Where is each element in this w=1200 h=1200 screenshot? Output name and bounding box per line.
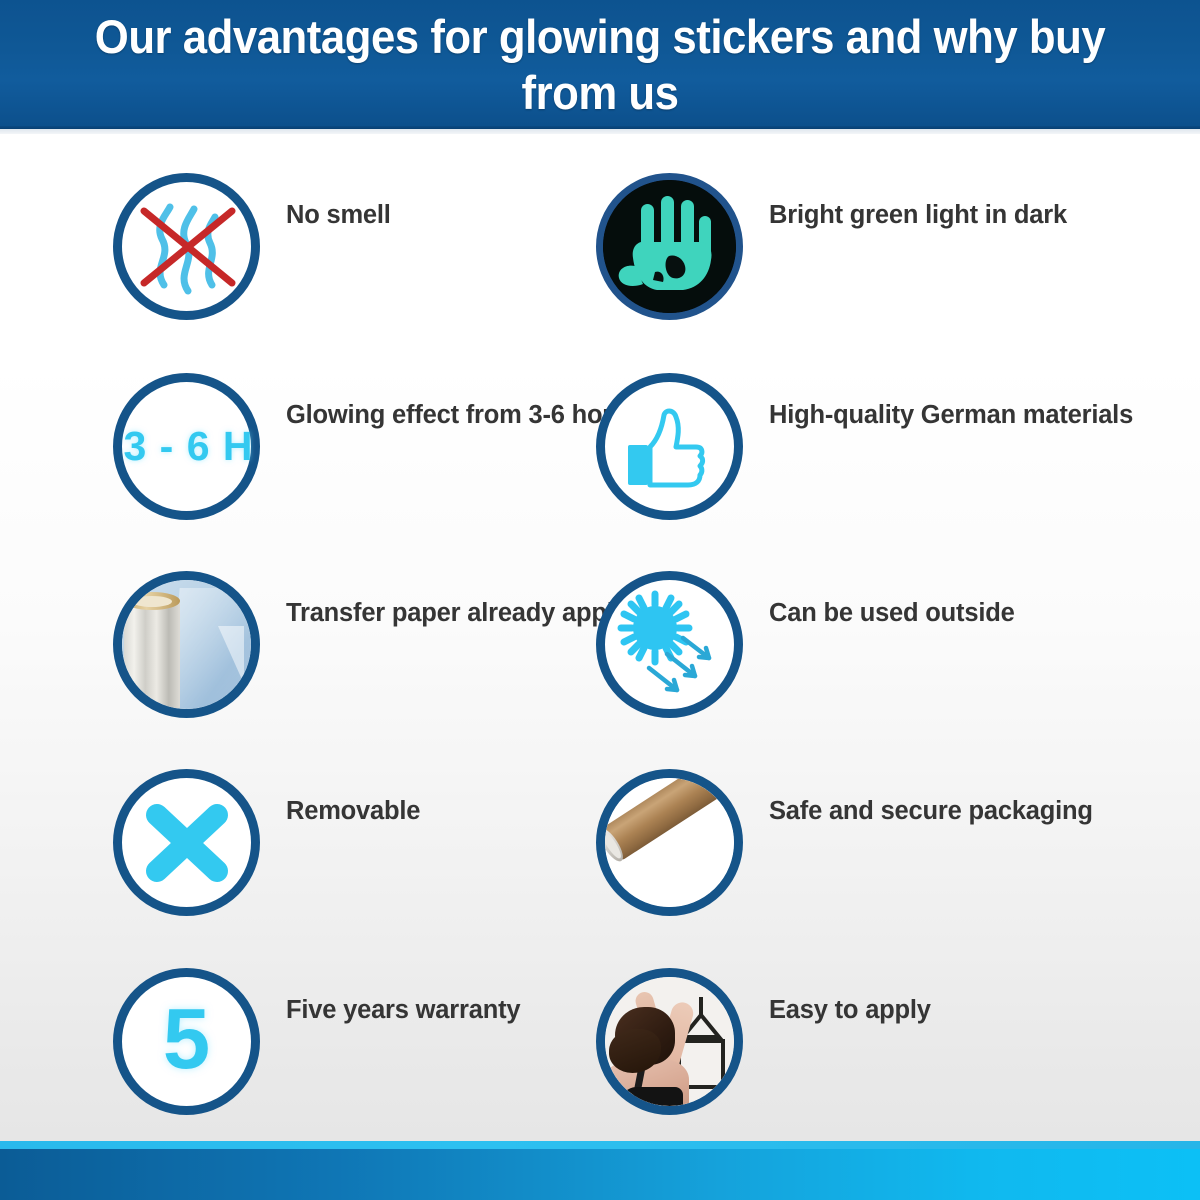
feature-no-smell: No smell (113, 173, 391, 320)
black-top (619, 1087, 683, 1106)
feature-glowing-duration: 3 - 6 H Glowing effect from 3-6 hours (113, 373, 641, 520)
page-title: Our advantages for glowing stickers and … (42, 9, 1158, 120)
feature-label: Bright green light in dark (769, 199, 1067, 232)
sun-rays-glyph (611, 586, 729, 704)
feature-german-materials: High-quality German materials (596, 373, 1133, 520)
number-five-icon: 5 (113, 968, 260, 1115)
thumbs-up-glyph (620, 397, 720, 497)
feature-label: Safe and secure packaging (769, 795, 1093, 828)
sun-with-rays-icon (596, 571, 743, 718)
cross-x-icon (113, 769, 260, 916)
film-roll-core-inner (132, 596, 172, 607)
no-smell-icon (113, 173, 260, 320)
apply-photo (605, 977, 734, 1106)
feature-warranty: 5 Five years warranty (113, 968, 520, 1115)
mailing-tube-icon (596, 769, 743, 916)
sun-spikes (621, 594, 689, 662)
thumbs-up-icon (596, 373, 743, 520)
mailing-tube-photo (605, 778, 734, 907)
film-fold (218, 626, 244, 684)
feature-easy-to-apply: Easy to apply (596, 968, 931, 1115)
feature-safe-packaging: Safe and secure packaging (596, 769, 1093, 916)
no-smell-glyph (132, 187, 242, 307)
feature-label: Glowing effect from 3-6 hours (286, 399, 641, 432)
glowing-handprint-icon (596, 173, 743, 320)
transfer-film-photo (122, 580, 251, 709)
hours-badge-text: 3 - 6 H (123, 423, 253, 470)
header-banner: Our advantages for glowing stickers and … (0, 0, 1200, 129)
feature-label: Removable (286, 795, 420, 828)
number-five-text: 5 (163, 997, 210, 1082)
footer-accent-line (0, 1141, 1200, 1149)
feature-label: Easy to apply (769, 994, 931, 1027)
footer-bar (0, 1149, 1200, 1200)
feature-label: Five years warranty (286, 994, 520, 1027)
feature-transfer-paper: Transfer paper already applied (113, 571, 650, 718)
handprint-photo (603, 180, 736, 313)
feature-label: Can be used outside (769, 597, 1015, 630)
x-mark-glyph (137, 793, 237, 893)
infographic-page: Our advantages for glowing stickers and … (0, 0, 1200, 1200)
features-grid: No smell (0, 134, 1200, 1134)
feature-bright-green-light: Bright green light in dark (596, 173, 1067, 320)
feature-outdoor-use: Can be used outside (596, 571, 1015, 718)
handprint-glyph (603, 180, 736, 313)
hours-badge-icon: 3 - 6 H (113, 373, 260, 520)
feature-removable: Removable (113, 769, 420, 916)
film-roll-body (124, 600, 180, 709)
feature-label: No smell (286, 199, 391, 232)
woman-applying-decal-icon (596, 968, 743, 1115)
feature-label: High-quality German materials (769, 399, 1133, 432)
transfer-film-roll-icon (113, 571, 260, 718)
